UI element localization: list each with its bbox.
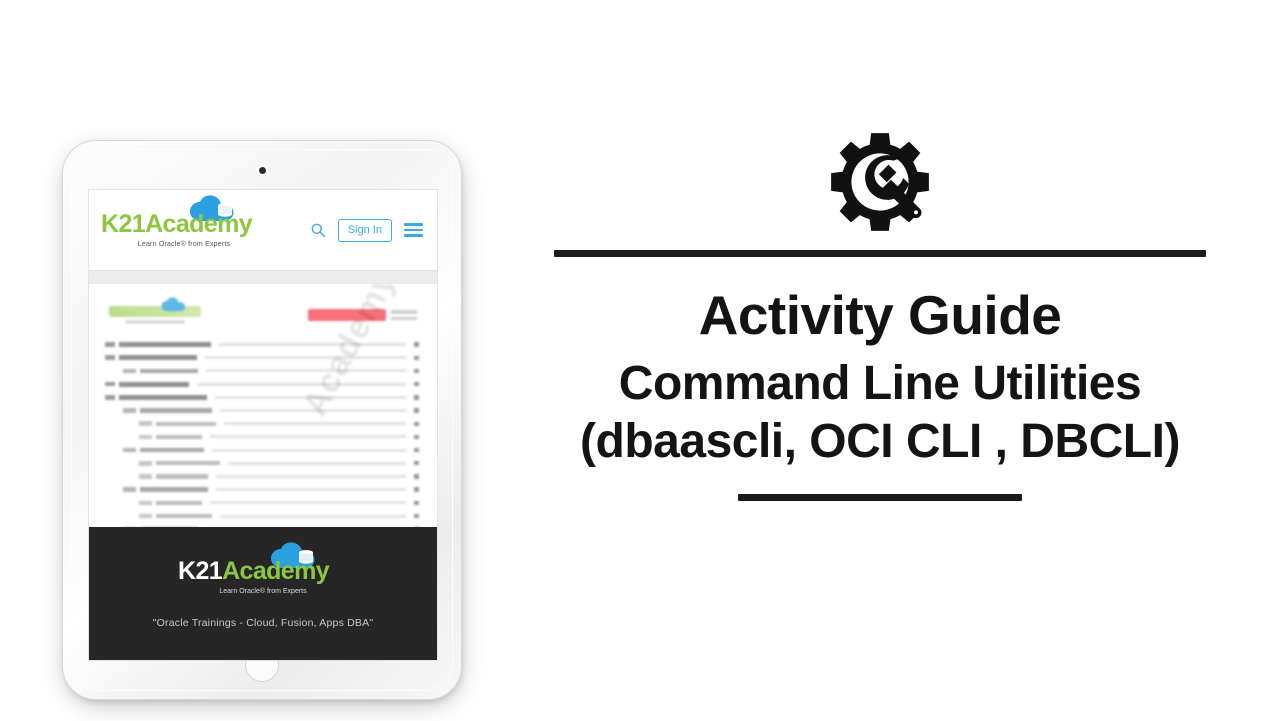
toc-row-page — [414, 474, 419, 478]
gear-wrench-icon — [824, 130, 936, 234]
toc-row-leader — [216, 488, 406, 491]
toc-row-number — [105, 342, 115, 347]
toc-row-leader — [206, 369, 406, 372]
page-subtitle-line1: Command Line Utilities — [619, 357, 1141, 411]
toc-row — [105, 457, 419, 470]
footer-logo: K21Academy Learn Oracle® from Experts — [178, 559, 348, 595]
toc-row — [105, 338, 419, 351]
site-header-actions: Sign In — [310, 219, 423, 242]
hamburger-menu-icon[interactable] — [404, 223, 423, 237]
toc-row-leader — [212, 449, 406, 452]
toc-row — [105, 391, 419, 404]
toc-row-label — [140, 369, 198, 374]
toc-row — [105, 351, 419, 364]
toc-row-leader — [220, 515, 406, 518]
toc-row-label — [156, 474, 208, 478]
toc-row-label — [156, 435, 202, 439]
toc-row-number — [139, 461, 152, 466]
camera-dot — [259, 167, 266, 174]
page-title: Activity Guide — [699, 287, 1062, 345]
toc-row-number — [123, 448, 136, 453]
document-logo — [109, 306, 201, 324]
toc-row-label — [119, 355, 197, 360]
toc-row-number — [139, 421, 152, 426]
toc-row — [105, 364, 419, 377]
document-toc — [99, 336, 427, 529]
toc-row-label — [156, 501, 202, 505]
footer-logo-text: K21Academy — [178, 559, 348, 584]
cloud-database-icon — [161, 297, 187, 312]
toc-row — [105, 417, 419, 430]
toc-row — [105, 496, 419, 509]
toc-row — [105, 378, 419, 391]
toc-row-page — [414, 408, 419, 412]
toc-row-number — [123, 408, 136, 413]
toc-row — [105, 470, 419, 483]
site-logo-tagline: Learn Oracle® from Experts — [101, 241, 267, 248]
document-logo-tagline-bar — [125, 320, 185, 324]
site-logo[interactable]: K21Academy Learn Oracle® from Experts — [101, 212, 267, 248]
toc-row-leader — [224, 422, 406, 425]
document-header — [99, 294, 427, 336]
toc-row-page — [414, 487, 419, 491]
footer-logo-text-part2: Academy — [222, 557, 329, 585]
site-header: K21Academy Learn Oracle® from Experts Si… — [89, 190, 437, 270]
footer-logo-text-part1: K21 — [178, 557, 222, 585]
toc-row-label — [140, 487, 208, 492]
tablet-screen: K21Academy Learn Oracle® from Experts Si… — [88, 189, 438, 661]
toc-row-number — [105, 382, 115, 387]
site-logo-text: K21Academy — [101, 212, 267, 237]
toc-row-number — [123, 487, 136, 492]
toc-row-page — [414, 342, 419, 346]
toc-row-label — [156, 461, 220, 465]
tablet-body: K21Academy Learn Oracle® from Experts Si… — [62, 140, 462, 700]
toc-row-leader — [216, 475, 406, 478]
footer-quote: "Oracle Trainings - Cloud, Fusion, Apps … — [153, 617, 374, 629]
toc-row-page — [414, 461, 419, 465]
toc-row-page — [414, 514, 419, 518]
toc-row-page — [414, 395, 419, 399]
toc-row-label — [119, 395, 207, 400]
divider-top — [554, 250, 1206, 257]
toc-row-page — [414, 356, 419, 360]
site-logo-text-part1: K21 — [101, 210, 145, 238]
toc-row — [105, 430, 419, 443]
toc-row-leader — [220, 409, 406, 412]
toc-row-number — [139, 501, 152, 506]
toc-row-number — [139, 474, 152, 479]
toc-row — [105, 509, 419, 522]
partner-logo-text-bars — [391, 310, 417, 320]
screen-footer: K21Academy Learn Oracle® from Experts "O… — [89, 527, 437, 660]
toc-row-leader — [219, 343, 406, 346]
toc-row-leader — [197, 383, 406, 386]
toc-row — [105, 444, 419, 457]
divider-bottom — [738, 494, 1022, 501]
toc-row-page — [414, 501, 419, 505]
partner-logo — [308, 309, 417, 321]
toc-row-page — [414, 382, 419, 386]
document-preview: Academy — [89, 284, 437, 529]
slide-canvas: K21Academy Learn Oracle® from Experts Si… — [0, 0, 1280, 721]
footer-logo-tagline: Learn Oracle® from Experts — [178, 588, 348, 595]
toc-row-page — [414, 435, 419, 439]
sign-in-button[interactable]: Sign In — [338, 219, 392, 242]
toc-row-page — [414, 369, 419, 373]
toc-row-number — [139, 435, 152, 440]
toc-row-leader — [215, 396, 406, 399]
partner-logo-bar — [308, 309, 386, 321]
site-logo-text-part2: Academy — [145, 210, 252, 238]
toc-row — [105, 404, 419, 417]
toc-row-leader — [205, 356, 406, 359]
title-panel: Activity Guide Command Line Utilities (d… — [520, 130, 1240, 550]
toc-row-leader — [210, 501, 406, 504]
document-logo-bar — [109, 306, 201, 317]
toc-row-page — [414, 422, 419, 426]
toc-row-label — [156, 514, 212, 518]
toc-row-leader — [228, 462, 406, 465]
toc-row-label — [119, 342, 211, 347]
header-divider — [89, 270, 437, 284]
toc-row-label — [119, 382, 189, 387]
toc-row-label — [140, 448, 204, 453]
page-subtitle-line2: (dbaascli, OCI CLI , DBCLI) — [580, 415, 1180, 469]
toc-row-leader — [210, 435, 406, 438]
toc-row-number — [139, 514, 152, 519]
toc-row-number — [105, 395, 115, 400]
toc-row-page — [414, 448, 419, 452]
toc-row-label — [140, 408, 212, 413]
toc-row-label — [156, 422, 216, 426]
tablet-mockup: K21Academy Learn Oracle® from Experts Si… — [58, 136, 464, 702]
toc-row-number — [105, 355, 115, 360]
toc-row — [105, 483, 419, 496]
search-icon[interactable] — [310, 222, 326, 238]
toc-row-number — [123, 369, 136, 374]
